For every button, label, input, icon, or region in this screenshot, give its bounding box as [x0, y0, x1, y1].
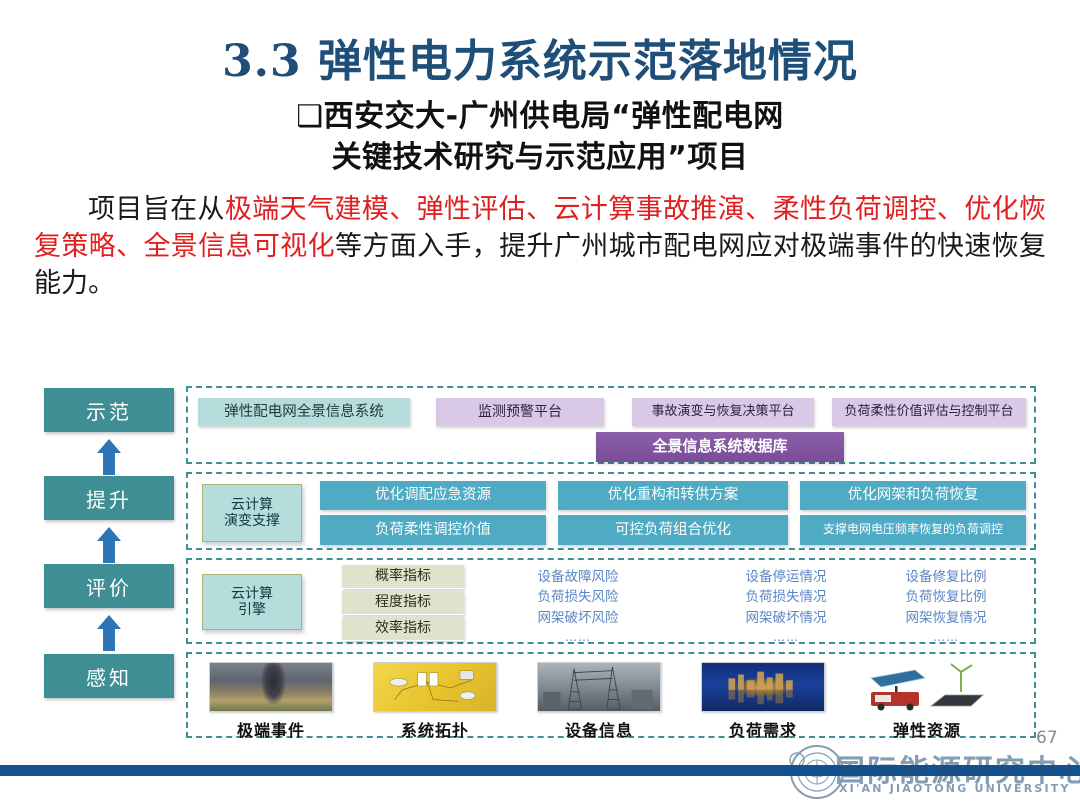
indicator-ellipsis: …… [706, 628, 866, 646]
cloud-engine-line-2: 引擎 [238, 602, 266, 618]
university-logo: 国际能源研究中心 XI'AN JIAOTONG UNIVERSITY [775, 742, 1075, 804]
subtitle-line-2: 关键技术研究与示范应用”项目 [0, 137, 1080, 178]
cloud-evolution-line-1: 云计算 [231, 497, 273, 513]
platform-monitoring-warning[interactable]: 监测预警平台 [436, 398, 604, 426]
perception-card-equipment-info[interactable]: 设备信息 [530, 662, 668, 741]
indicator-item: 负荷损失情况 [706, 587, 866, 607]
substation-thumbnail [537, 662, 661, 712]
up-arrow-icon [96, 526, 122, 564]
panorama-database[interactable]: 全景信息系统数据库 [596, 432, 844, 462]
stage-box-improvement[interactable]: 提升 [44, 476, 174, 520]
indicator-ellipsis: …… [866, 628, 1026, 646]
page-title: 3.3 弹性电力系统示范落地情况 [0, 38, 1080, 86]
architecture-diagram: 示范 提升 评价 感知 弹性配电网全景信息系统 监测预警平台 事故演变与恢复决策… [0, 382, 1080, 760]
indicator-probability[interactable]: 概率指标 [342, 565, 464, 589]
indicator-item: 网架破坏风险 [498, 608, 658, 628]
indicator-item: 负荷损失风险 [498, 587, 658, 607]
body-paragraph: 项目旨在从极端天气建模、弹性评估、云计算事故推演、柔性负荷调控、优化恢复策略、全… [34, 192, 1046, 302]
indicator-item: 网架破坏情况 [706, 608, 866, 628]
indicator-item: 负荷恢复比例 [866, 587, 1026, 607]
platform-load-flexibility[interactable]: 负荷柔性价值评估与控制平台 [832, 398, 1026, 426]
title-area: 3.3 弹性电力系统示范落地情况 ❑西安交大-广州供电局“弹性配电网 关键技术研… [0, 0, 1080, 178]
cloud-evolution-line-2: 演变支撑 [224, 513, 280, 529]
resources-thumbnail [865, 662, 989, 712]
perception-label: 负荷需求 [694, 717, 832, 741]
city-night-thumbnail [701, 662, 825, 712]
up-arrow-icon [96, 614, 122, 652]
cloud-evolution-support[interactable]: 云计算 演变支撑 [202, 484, 302, 542]
indicator-column-status: 设备停运情况 负荷损失情况 网架破坏情况 …… [706, 567, 866, 646]
action-optimize-emergency-resources[interactable]: 优化调配应急资源 [320, 481, 546, 510]
tier-improvement: 云计算 演变支撑 优化调配应急资源 优化重构和转供方案 优化网架和负荷恢复 负荷… [186, 472, 1036, 550]
indicator-ellipsis: …… [498, 628, 658, 646]
indicator-item: 设备修复比例 [866, 567, 1026, 587]
cloud-engine-line-1: 云计算 [231, 586, 273, 602]
up-arrow-icon [96, 438, 122, 476]
watermark-english: XI'AN JIAOTONG UNIVERSITY [839, 782, 1071, 795]
storm-thumbnail [209, 662, 333, 712]
action-load-flexibility-value[interactable]: 负荷柔性调控价值 [320, 515, 546, 545]
paragraph-segment-1: 项目旨在从 [88, 194, 225, 225]
indicator-item: 网架恢复情况 [866, 608, 1026, 628]
stage-box-demonstration[interactable]: 示范 [44, 388, 174, 432]
tier-evaluation: 云计算 引擎 概率指标 程度指标 效率指标 设备故障风险 负荷损失风险 网架破坏… [186, 558, 1036, 644]
indicator-item: 设备停运情况 [706, 567, 866, 587]
tier-perception: 极端事件 系统拓扑 [186, 652, 1036, 738]
subtitle-line-1: ❑西安交大-广州供电局“弹性配电网 [0, 96, 1080, 137]
stage-box-perception[interactable]: 感知 [44, 654, 174, 698]
tier-demonstration: 弹性配电网全景信息系统 监测预警平台 事故演变与恢复决策平台 负荷柔性价值评估与… [186, 386, 1036, 464]
topology-thumbnail [373, 662, 497, 712]
platform-panorama-system[interactable]: 弹性配电网全景信息系统 [198, 398, 410, 426]
stage-box-evaluation[interactable]: 评价 [44, 564, 174, 608]
indicator-efficiency[interactable]: 效率指标 [342, 617, 464, 641]
page-subtitle: ❑西安交大-广州供电局“弹性配电网 关键技术研究与示范应用”项目 [0, 96, 1080, 179]
indicator-column-risk: 设备故障风险 负荷损失风险 网架破坏风险 …… [498, 567, 658, 646]
action-optimize-reconfiguration[interactable]: 优化重构和转供方案 [558, 481, 788, 510]
perception-label: 极端事件 [202, 717, 340, 741]
action-controllable-load-optimization[interactable]: 可控负荷组合优化 [558, 515, 788, 545]
platform-accident-recovery[interactable]: 事故演变与恢复决策平台 [632, 398, 814, 426]
perception-card-extreme-event[interactable]: 极端事件 [202, 662, 340, 741]
perception-label: 弹性资源 [858, 717, 996, 741]
perception-label: 系统拓扑 [366, 717, 504, 741]
perception-card-system-topology[interactable]: 系统拓扑 [366, 662, 504, 741]
indicator-degree[interactable]: 程度指标 [342, 591, 464, 615]
action-optimize-grid-load-recovery[interactable]: 优化网架和负荷恢复 [800, 481, 1026, 510]
action-voltage-frequency-load-control[interactable]: 支撑电网电压频率恢复的负荷调控 [800, 515, 1026, 545]
page-number: 67 [1036, 728, 1058, 748]
stage-column: 示范 提升 评价 感知 [44, 382, 176, 732]
perception-card-load-demand[interactable]: 负荷需求 [694, 662, 832, 741]
cloud-engine[interactable]: 云计算 引擎 [202, 574, 302, 630]
indicator-item: 设备故障风险 [498, 567, 658, 587]
indicator-column-recovery: 设备修复比例 负荷恢复比例 网架恢复情况 …… [866, 567, 1026, 646]
perception-card-flexible-resources[interactable]: 弹性资源 [858, 662, 996, 741]
perception-label: 设备信息 [530, 717, 668, 741]
